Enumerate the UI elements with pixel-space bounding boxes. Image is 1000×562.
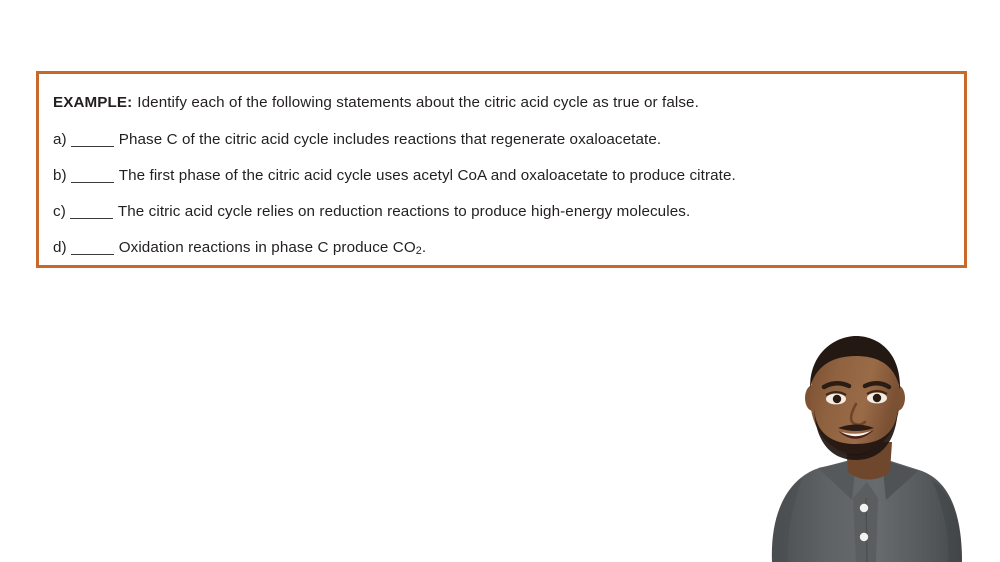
item-text-d-before: Oxidation reactions in phase C produce C… [119,240,416,255]
item-marker-c: c) [53,204,66,219]
item-text-a: Phase C of the citric acid cycle include… [119,132,662,147]
item-text-b: The first phase of the citric acid cycle… [119,168,736,183]
example-prompt-text: Identify each of the following statement… [137,95,699,110]
item-text-c: The citric acid cycle relies on reductio… [118,204,690,219]
list-item: d) Oxidation reactions in phase C produc… [49,230,946,266]
answer-blank-c[interactable] [70,206,113,219]
item-marker-d: d) [53,240,67,255]
example-box-content: EXAMPLE: Identify each of the following … [39,74,964,276]
presenter-illustration [710,332,1000,562]
item-marker-b: b) [53,168,67,183]
list-item: a) Phase C of the citric acid cycle incl… [49,122,946,158]
answer-blank-d[interactable] [71,242,114,255]
item-marker-a: a) [53,132,67,147]
example-prompt: EXAMPLE: Identify each of the following … [49,88,946,118]
item-text-d-after: . [422,240,426,255]
example-box: EXAMPLE: Identify each of the following … [36,71,967,268]
presenter-video-overlay [710,332,1000,562]
answer-blank-b[interactable] [71,170,114,183]
example-label: EXAMPLE: [53,95,132,110]
shirt-button [860,504,868,512]
list-item: c) The citric acid cycle relies on reduc… [49,194,946,230]
answer-blank-a[interactable] [71,134,114,147]
list-item: b) The first phase of the citric acid cy… [49,158,946,194]
shirt-button [860,533,868,541]
